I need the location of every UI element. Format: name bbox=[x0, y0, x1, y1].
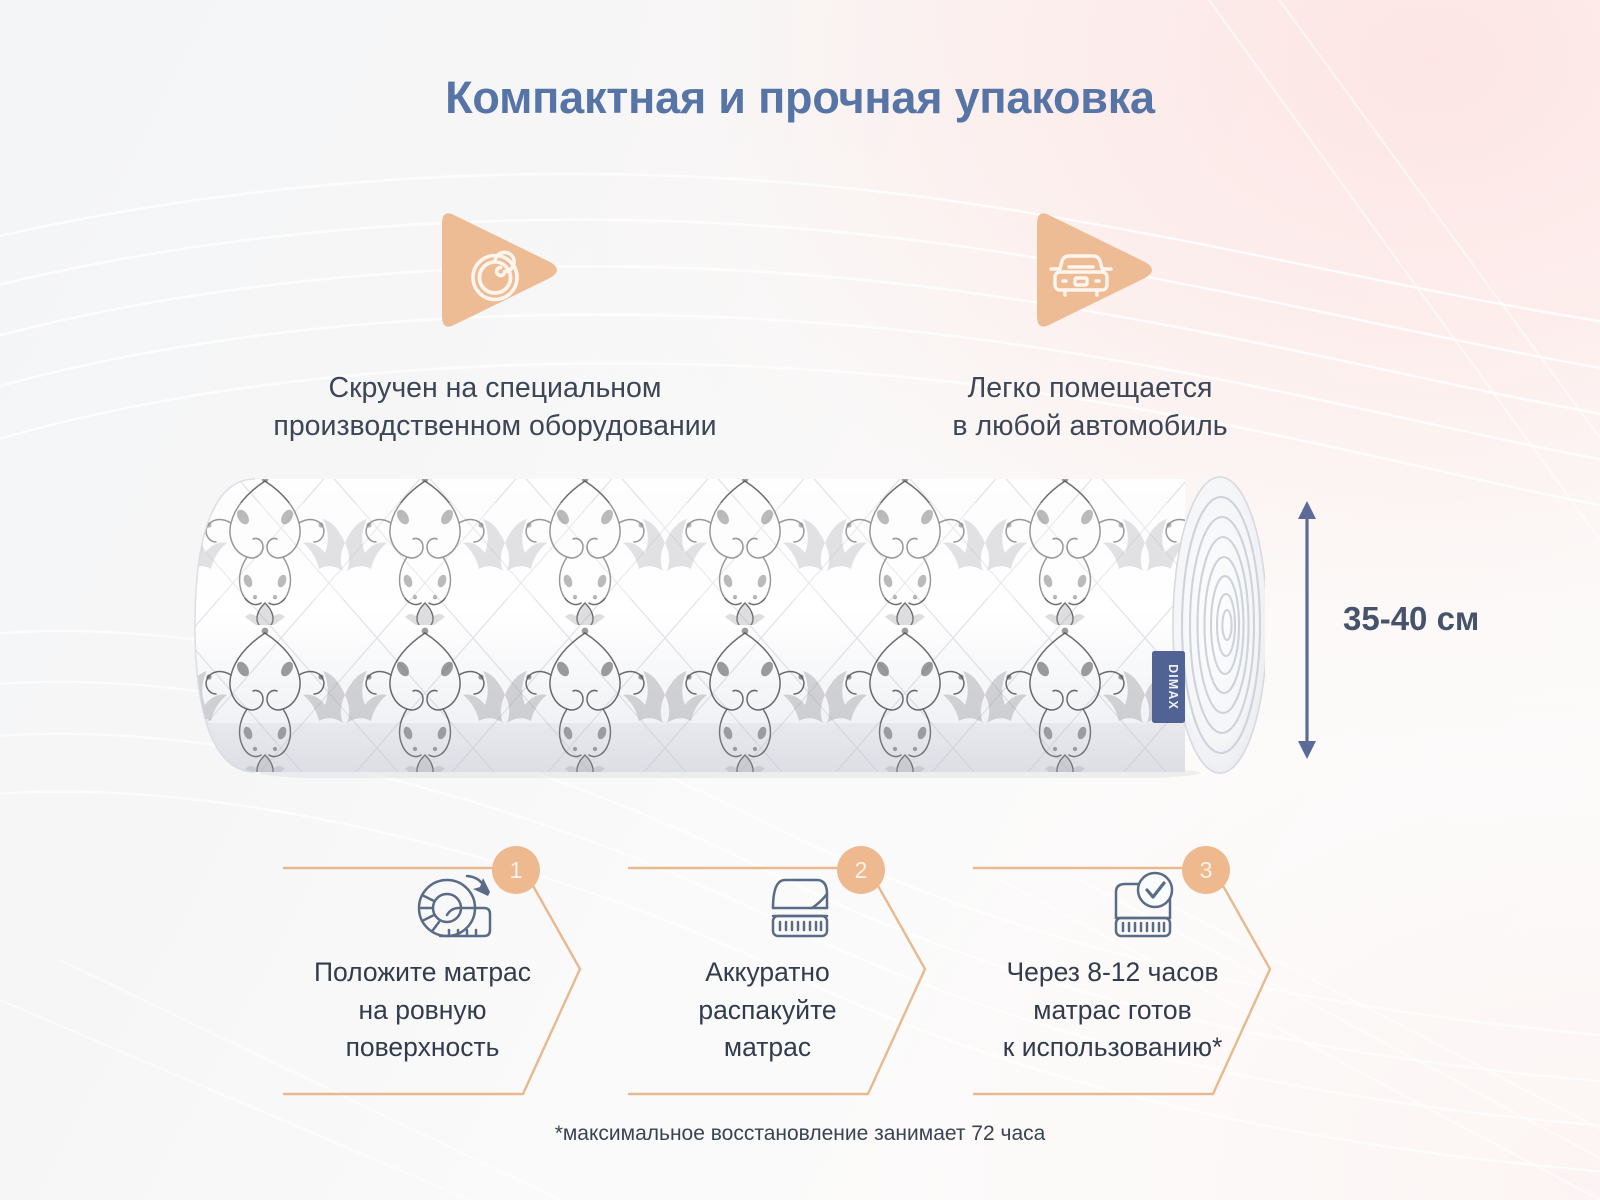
mattress-unpack-icon bbox=[755, 868, 841, 950]
spiral-roll-icon bbox=[420, 200, 570, 340]
step-icon-wrap bbox=[280, 868, 625, 950]
step-3: 3 bbox=[970, 838, 1315, 1100]
step-text: Через 8-12 часов матрас готов к использо… bbox=[970, 954, 1255, 1067]
svg-text:DIMAX: DIMAX bbox=[1166, 664, 1180, 710]
spiral-roll-badge bbox=[420, 200, 570, 340]
step-text: Положите матрас на ровную поверхность bbox=[280, 954, 565, 1067]
dimension-label: 35-40 см bbox=[1343, 600, 1479, 638]
footnote: *максимальное восстановление занимает 72… bbox=[0, 1122, 1600, 1146]
car-badge bbox=[1015, 200, 1165, 340]
step-2: 2 bbox=[625, 838, 970, 1100]
step-1: 1 bbox=[280, 838, 625, 1100]
feature-rolled-on-equipment: Скручен на специальном производственном … bbox=[175, 200, 815, 446]
step-text: Аккуратно распакуйте матрас bbox=[625, 954, 910, 1067]
feature-fits-any-car: Легко помещается в любой автомобиль bbox=[855, 200, 1325, 446]
feature-caption: Легко помещается в любой автомобиль bbox=[855, 370, 1325, 446]
steps-row: 1 bbox=[280, 838, 1340, 1100]
mattress-check-icon bbox=[1100, 868, 1186, 950]
infographic-canvas: Компактная и прочная упаковка Скручен на… bbox=[0, 0, 1600, 1200]
page-title: Компактная и прочная упаковка bbox=[0, 72, 1600, 124]
feature-caption: Скручен на специальном производственном … bbox=[175, 370, 815, 446]
rolled-mattress-image: DIMAX bbox=[185, 473, 1265, 778]
step-icon-wrap bbox=[970, 868, 1315, 950]
step-icon-wrap bbox=[625, 868, 970, 950]
car-front-icon bbox=[1015, 200, 1165, 340]
unrolling-mattress-icon bbox=[410, 868, 496, 950]
brand-tag: DIMAX bbox=[1152, 651, 1185, 723]
dimension-indicator: 35-40 см bbox=[1285, 495, 1545, 765]
